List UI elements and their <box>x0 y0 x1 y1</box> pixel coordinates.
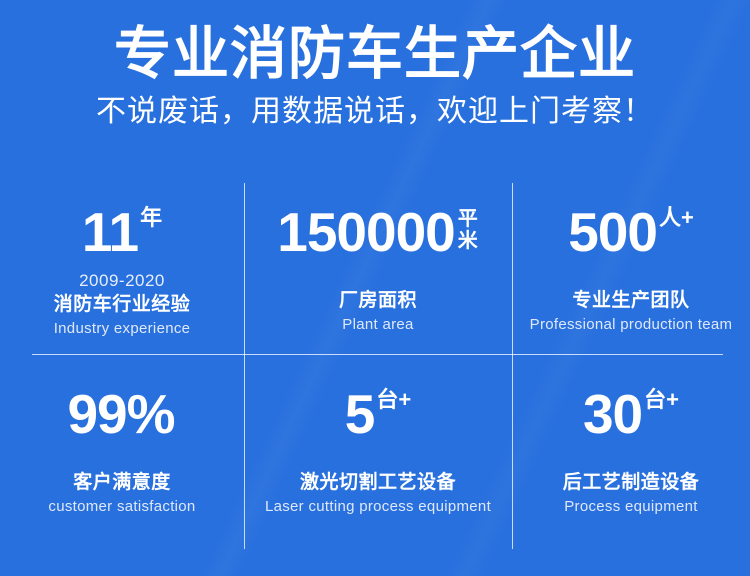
stat-unit: 台+ <box>376 388 411 412</box>
stat-unit-char-1: 平 <box>458 208 478 230</box>
promo-banner: 专业消防车生产企业 不说废话，用数据说话，欢迎上门考察！ 11 年 2009-2… <box>0 0 750 576</box>
stat-label-en: Plant area <box>342 315 413 335</box>
banner-subtitle: 不说废话，用数据说话，欢迎上门考察！ <box>0 92 750 132</box>
stat-label-cn: 后工艺制造设备 <box>563 470 700 496</box>
stat-label-cn: 专业生产团队 <box>572 288 689 314</box>
stat-label-en: Process equipment <box>564 497 698 517</box>
stats-row-top: 11 年 2009-2020 消防车行业经验 Industry experien… <box>0 188 750 354</box>
stat-number: 150000 <box>277 202 455 262</box>
stats-row-bottom: 99% 客户满意度 customer satisfaction 5 台+ 激光切… <box>0 368 750 534</box>
stat-number-line: 99% <box>67 384 176 448</box>
stat-number-line: 11 年 <box>82 202 162 266</box>
stat-number-line: 5 台+ <box>345 384 411 448</box>
stat-unit-char-2: 米 <box>458 230 478 252</box>
stat-number: 11 <box>82 202 138 262</box>
stat-cell-production-team: 500 人+ 专业生产团队 Professional production te… <box>512 188 750 354</box>
stat-label-cn: 客户满意度 <box>73 470 171 496</box>
stat-number-line: 150000 平 米 <box>277 202 479 266</box>
stat-number: 5 <box>345 384 375 444</box>
stat-label-en: Professional production team <box>530 315 733 335</box>
stat-label-cn: 激光切割工艺设备 <box>300 470 456 496</box>
stat-number-line: 500 人+ <box>568 202 694 266</box>
stat-number: 30 <box>583 384 642 444</box>
stat-unit: 年 <box>140 206 162 230</box>
stat-label-en: Industry experience <box>54 319 191 339</box>
stats-grid: 11 年 2009-2020 消防车行业经验 Industry experien… <box>0 178 750 556</box>
stat-cell-customer-satisfaction: 99% 客户满意度 customer satisfaction <box>0 368 244 534</box>
stat-label-en: Laser cutting process equipment <box>265 497 491 517</box>
stat-number: 500 <box>568 202 657 262</box>
stat-label-cn: 消防车行业经验 <box>54 292 191 318</box>
stat-cell-industry-experience: 11 年 2009-2020 消防车行业经验 Industry experien… <box>0 188 244 354</box>
stat-number: 99% <box>67 384 174 444</box>
stat-unit: 台+ <box>644 388 679 412</box>
stat-unit: 人+ <box>659 206 694 230</box>
stat-label-cn: 厂房面积 <box>339 288 417 314</box>
stat-label-en: customer satisfaction <box>48 497 195 517</box>
stat-unit-stacked: 平 米 <box>457 208 479 252</box>
stat-year-range: 2009-2020 <box>79 270 165 292</box>
stat-cell-process-equipment: 30 台+ 后工艺制造设备 Process equipment <box>512 368 750 534</box>
banner-title: 专业消防车生产企业 <box>0 22 750 86</box>
stat-cell-plant-area: 150000 平 米 厂房面积 Plant area <box>244 188 512 354</box>
stat-cell-laser-cutting: 5 台+ 激光切割工艺设备 Laser cutting process equi… <box>244 368 512 534</box>
banner-header: 专业消防车生产企业 不说废话，用数据说话，欢迎上门考察！ <box>0 0 750 132</box>
stat-number-line: 30 台+ <box>583 384 679 448</box>
horizontal-divider <box>32 354 723 355</box>
